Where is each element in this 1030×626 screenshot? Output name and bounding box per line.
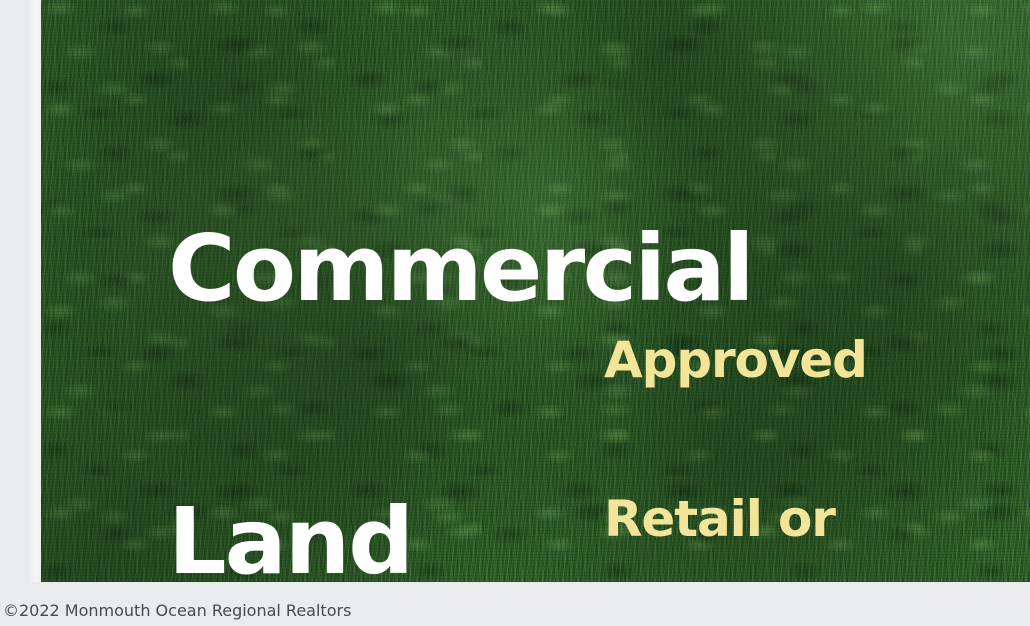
subheadline-line-1: Approved [604, 334, 972, 387]
listing-photo-page: Commercial Land For Sale Approved Retail… [0, 0, 1030, 626]
property-photo[interactable]: Commercial Land For Sale Approved Retail… [41, 0, 1030, 582]
copyright-notice: ©2022 Monmouth Ocean Regional Realtors [3, 601, 351, 620]
subheadline-line-2: Retail or [604, 493, 972, 546]
left-gutter-divider [30, 0, 41, 582]
subheadline-block: Approved Retail or Explore other Use Opt… [604, 228, 972, 582]
